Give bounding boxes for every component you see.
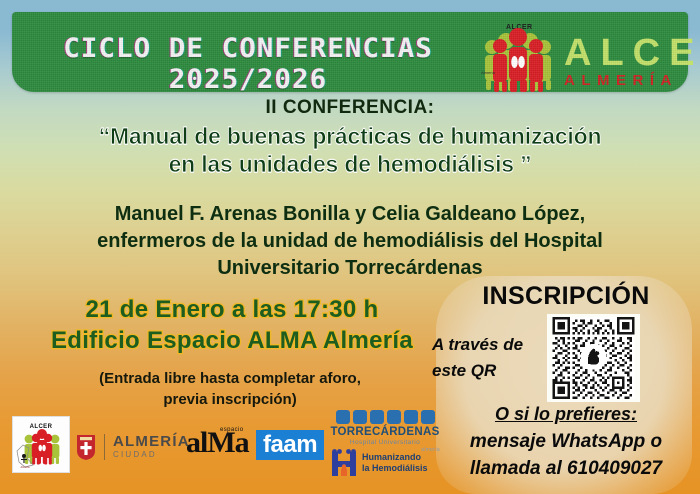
whatsapp-line1: mensaje WhatsApp o	[436, 428, 696, 455]
event-date-venue: 21 de Enero a las 17:30 h Edificio Espac…	[28, 294, 436, 356]
quality-seal-icon-6	[421, 410, 435, 424]
free-entry-note: (Entrada libre hasta completar aforo, pr…	[40, 368, 420, 410]
header-banner: CICLO DE CONFERENCIAS 2025/2026 ALCER	[12, 12, 688, 92]
alcer-brand-wordmark: ALCER ALMERÍA	[564, 34, 700, 90]
conference-title: “Manual de buenas prácticas de humanizac…	[30, 122, 670, 178]
event-venue: Edificio Espacio ALMA Almería	[28, 325, 436, 356]
conference-number-label: II CONFERENCIA:	[0, 97, 700, 119]
svg-text:Almería: Almería	[21, 465, 30, 469]
quality-seal-icon-1	[336, 410, 350, 424]
cycle-title-line2: 2025/2026	[24, 64, 473, 95]
event-date: 21 de Enero a las 17:30 h	[28, 294, 436, 325]
qr-instruction-line1: A través de	[432, 332, 548, 358]
faam-name: faam	[263, 431, 317, 458]
free-entry-note-line1: (Entrada libre hasta completar aforo,	[40, 368, 420, 389]
quality-seal-icon-4	[387, 410, 401, 424]
alcer-sponsor-logo: ALCER	[12, 416, 70, 473]
alma-logo: alMa espacio	[186, 428, 249, 458]
almeria-ciudad-logo: ALMERÍA CIUDAD	[76, 430, 190, 464]
torrecardenas-icon-row	[330, 410, 440, 424]
alternative-contact-heading: O si lo prefieres:	[440, 404, 692, 425]
quality-seal-icon-2	[353, 410, 367, 424]
speakers-line2: enfermeros de la unidad de hemodiálisis …	[40, 228, 660, 255]
alcer-brand-main: ALCER	[564, 34, 700, 72]
torrecardenas-sub: Hospital Universitario	[330, 439, 440, 447]
conference-title-line1: “Manual de buenas prácticas de humanizac…	[30, 122, 670, 150]
speakers-line3: Universitario Torrecárdenas	[40, 255, 660, 282]
qr-code[interactable]	[547, 314, 640, 402]
conference-cycle-heading: CICLO DE CONFERENCIAS 2025/2026	[28, 34, 468, 95]
whatsapp-contact: mensaje WhatsApp o llamada al 610409027	[436, 428, 696, 482]
almeria-shield-icon	[76, 434, 96, 461]
alcer-figures-logo-icon	[478, 26, 558, 92]
almeria-sub: CIUDAD	[113, 449, 190, 460]
alcer-region-caption: Almería	[471, 70, 505, 75]
almeria-name: ALMERÍA	[113, 434, 190, 449]
quality-seal-icon-3	[370, 410, 384, 424]
speakers-block: Manuel F. Arenas Bonilla y Celia Galdean…	[40, 201, 660, 282]
humanizando-line2: la Hemodiálisis	[362, 463, 428, 474]
humanizando-h-icon	[330, 448, 358, 478]
torrecardenas-name: TORRECÁRDENAS	[330, 426, 440, 439]
poster-canvas: CICLO DE CONFERENCIAS 2025/2026 ALCER	[0, 0, 700, 494]
conference-title-line2: en las unidades de hemodiálisis ”	[30, 150, 670, 178]
humanizando-logo: Humanizando la Hemodiálisis	[330, 448, 442, 478]
qr-instruction: A través de este QR	[432, 332, 548, 384]
whatsapp-line2: llamada al 610409027	[436, 455, 696, 482]
faam-logo: faam	[256, 430, 324, 460]
humanizando-line1: Humanizando	[362, 452, 428, 463]
logo-divider	[104, 434, 105, 460]
alma-sup: espacio	[220, 427, 243, 433]
free-entry-note-line2: previa inscripción)	[40, 389, 420, 410]
quality-seal-icon-5	[404, 410, 418, 424]
qr-instruction-line2: este QR	[432, 358, 548, 384]
cycle-title-line1: CICLO DE CONFERENCIAS	[24, 34, 473, 64]
alcer-brand-sub: ALMERÍA	[564, 72, 700, 90]
inscription-heading: INSCRIPCIÓN	[448, 282, 684, 311]
speakers-line1: Manuel F. Arenas Bonilla y Celia Galdean…	[40, 201, 660, 228]
